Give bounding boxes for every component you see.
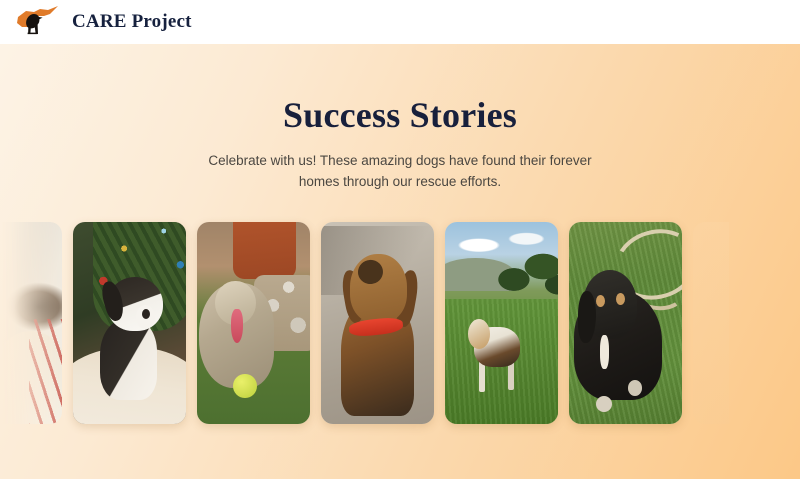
story-card-3[interactable] <box>197 222 310 424</box>
brand-name: CARE Project <box>72 11 192 33</box>
story-card-5[interactable] <box>445 222 558 424</box>
story-card-2[interactable] <box>73 222 186 424</box>
cyprus-map-with-dog-logo-icon[interactable] <box>14 5 60 39</box>
story-photo-7 <box>693 222 729 424</box>
page-title: Success Stories <box>0 96 800 136</box>
story-photo-5 <box>445 222 558 424</box>
story-photo-4 <box>321 222 434 424</box>
page-subtitle: Celebrate with us! These amazing dogs ha… <box>202 150 598 194</box>
success-stories-gallery[interactable] <box>0 222 800 425</box>
story-card-4[interactable] <box>321 222 434 424</box>
story-photo-6 <box>569 222 682 424</box>
story-photo-1 <box>0 222 62 424</box>
story-card-6[interactable] <box>569 222 682 424</box>
story-photo-3 <box>197 222 310 424</box>
site-header: CARE Project <box>0 0 800 44</box>
story-photo-2 <box>73 222 186 424</box>
story-card-1[interactable] <box>0 222 62 424</box>
hero-section: Success Stories Celebrate with us! These… <box>0 44 800 193</box>
story-card-7[interactable] <box>693 222 729 424</box>
